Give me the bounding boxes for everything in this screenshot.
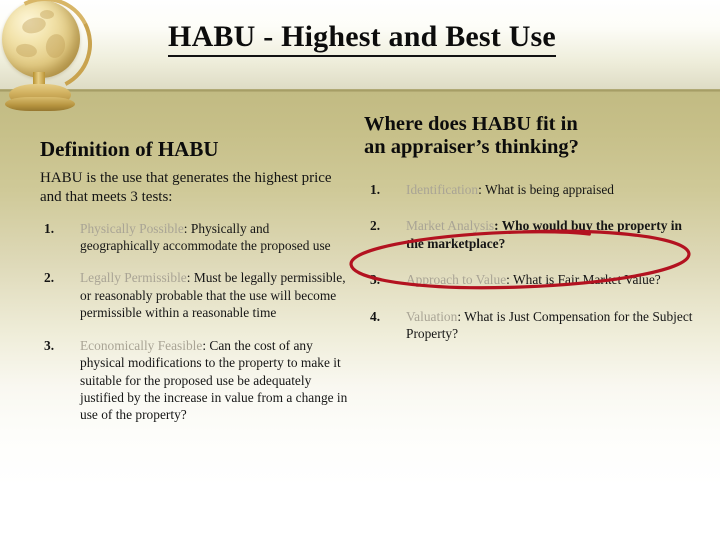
list-item-separator: : [187, 270, 194, 285]
page-title: HABU - Highest and Best Use [112, 20, 612, 54]
list-item-term: Physically Possible [80, 221, 184, 236]
list-item-number: 3. [44, 337, 54, 354]
list-item-number: 4. [370, 308, 380, 325]
list-item: 3.Economically Feasible: Can the cost of… [40, 337, 352, 424]
list-item: 4.Valuation: What is Just Compensation f… [364, 308, 694, 343]
list-item: 3.Approach to Value: What is Fair Market… [364, 271, 694, 288]
slide-canvas: HABU - Highest and Best Use Definition o… [0, 0, 720, 540]
list-item-term: Identification [406, 182, 478, 197]
list-item-term: Economically Feasible [80, 338, 202, 353]
appraisal-steps-list: 1.Identification: What is being appraise… [364, 181, 694, 343]
list-item-term: Approach to Value [406, 272, 506, 287]
right-column: Where does HABU fit in an appraiser’s th… [364, 113, 694, 361]
habu-tests-list: 1.Physically Possible: Physically and ge… [40, 220, 352, 424]
list-item-separator: : [506, 272, 513, 287]
left-column-heading: Definition of HABU [40, 138, 352, 162]
list-item-text: What is Fair Market Value? [513, 272, 661, 287]
list-item-separator: : [494, 218, 502, 233]
list-item-number: 2. [44, 269, 54, 286]
list-item-number: 1. [370, 181, 380, 198]
list-item: 2.Legally Permissible: Must be legally p… [40, 269, 352, 321]
list-item-separator: : [478, 182, 485, 197]
list-item-text: What is being appraised [485, 182, 614, 197]
list-item: 1.Physically Possible: Physically and ge… [40, 220, 352, 255]
list-item-term: Valuation [406, 309, 457, 324]
globe-stand-foot [5, 97, 75, 111]
list-item-highlighted: 2.Market Analysis: Who would buy the pro… [364, 217, 694, 252]
list-item-term: Market Analysis [406, 218, 494, 233]
left-column: Definition of HABU HABU is the use that … [40, 138, 352, 439]
list-item-number: 2. [370, 217, 380, 234]
list-item-number: 1. [44, 220, 54, 237]
page-title-text: HABU - Highest and Best Use [168, 20, 556, 57]
right-column-heading-line-1: Where does HABU fit in [364, 113, 694, 136]
right-column-heading-line-2: an appraiser’s thinking? [364, 136, 694, 159]
list-item: 1.Identification: What is being appraise… [364, 181, 694, 198]
list-item-term: Legally Permissible [80, 270, 187, 285]
left-column-lead-text: HABU is the use that generates the highe… [40, 169, 352, 207]
list-item-separator: : [184, 221, 191, 236]
globe-icon [0, 0, 112, 118]
list-item-number: 3. [370, 271, 380, 288]
